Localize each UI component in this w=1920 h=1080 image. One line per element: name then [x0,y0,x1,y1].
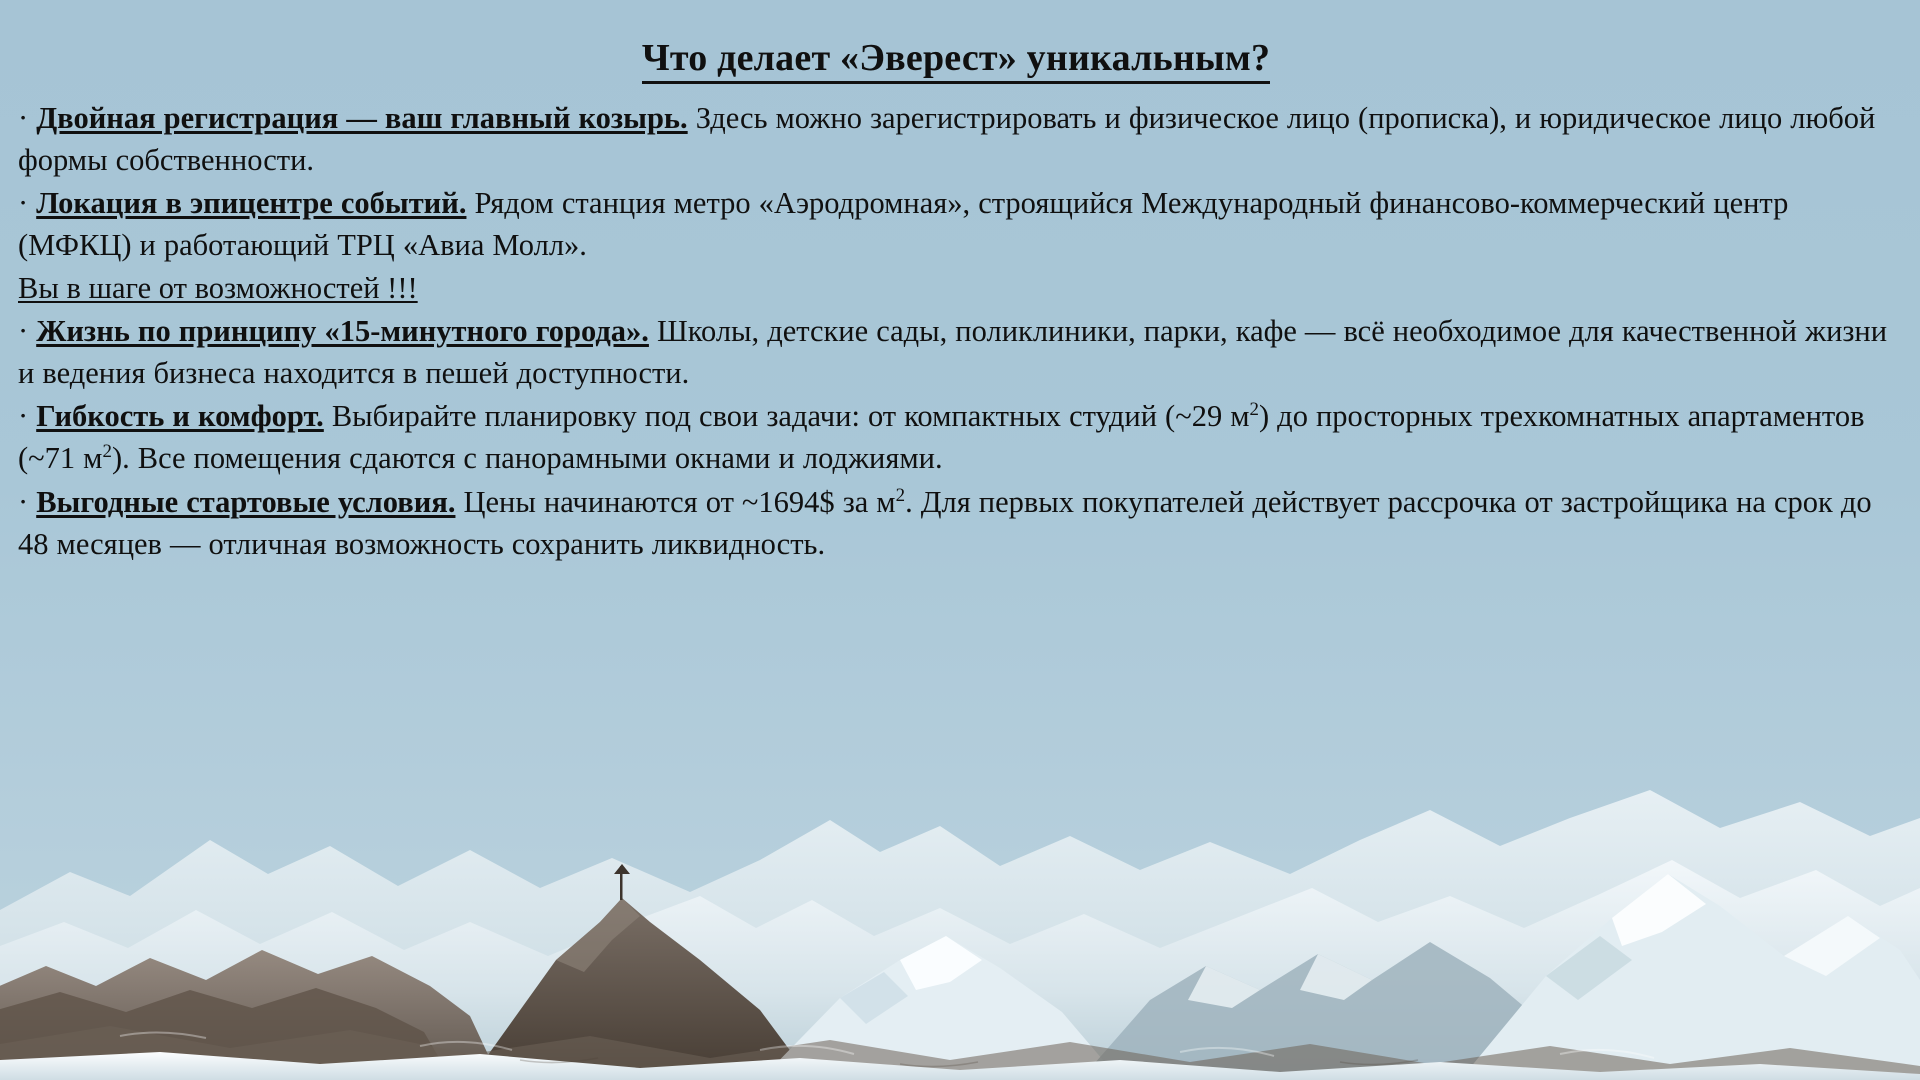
bullet-marker: · [18,186,28,220]
bullet-item-15-minute-city: · Жизнь по принципу «15-минутного города… [18,310,1894,394]
superscript-square-meters-studio: 2 [1250,399,1259,420]
bullet-item-dual-registration: · Двойная регистрация — ваш главный козы… [18,97,1894,181]
bullet-body-flexibility-part1: Выбирайте планировку под свои задачи: от… [324,399,1250,433]
callout-text: Вы в шаге от возможностей !!! [18,271,418,305]
page-title-text: Что делает «Эверест» уникальным? [642,37,1270,84]
bullet-body-flexibility-part3: ). Все помещения сдаются с панорамными о… [112,441,943,475]
bullet-marker: · [18,101,28,135]
bullet-item-location: · Локация в эпицентре событий. Рядом ста… [18,182,1894,266]
bullet-body-starting-part1: Цены начинаются от ~1694$ за м [455,485,895,519]
bullet-marker: · [18,485,28,519]
bullet-lead-location: Локация в эпицентре событий. [36,186,466,220]
callout-opportunity: Вы в шаге от возможностей !!! [18,267,1894,309]
bullet-marker: · [18,314,28,348]
mountain-range-image [0,660,1920,1080]
superscript-square-meters-three-room: 2 [102,441,111,462]
superscript-square-meters-price: 2 [896,484,905,505]
bullet-lead-15-minute-city: Жизнь по принципу «15-минутного города». [36,314,649,348]
bullet-lead-starting-conditions: Выгодные стартовые условия. [36,485,455,519]
mountain-illustration [0,660,1920,1080]
bullet-item-starting-conditions: · Выгодные стартовые условия. Цены начин… [18,481,1894,565]
page-title: Что делает «Эверест» уникальным? [18,36,1894,81]
bullet-lead-flexibility-comfort: Гибкость и комфорт. [36,399,324,433]
slide-content: Что делает «Эверест» уникальным? · Двойн… [0,0,1920,566]
bullet-marker: · [18,399,28,433]
bullet-item-flexibility-comfort: · Гибкость и комфорт. Выбирайте планиров… [18,395,1894,479]
bullet-lead-dual-registration: Двойная регистрация — ваш главный козырь… [36,101,687,135]
